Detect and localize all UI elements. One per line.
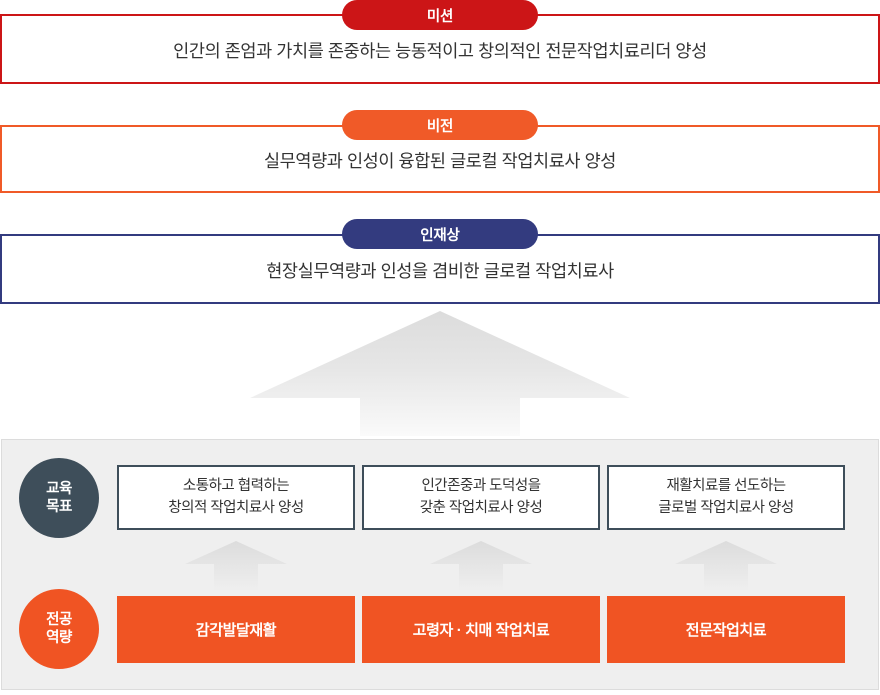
education-goal-box-line2: 글로벌 작업치료사 양성: [658, 500, 793, 516]
major-competency-box-label: 전문작업치료: [686, 619, 766, 640]
talent-pill-badge: 인재상: [342, 219, 538, 249]
major-competency-box: 전문작업치료: [607, 596, 845, 663]
talent-pill-label: 인재상: [420, 224, 459, 245]
vision-pill-label: 비전: [427, 115, 453, 136]
education-goal-circle-line1: 교육: [46, 480, 72, 498]
education-goal-box-line2: 창의적 작업치료사 양성: [168, 500, 303, 516]
small-upward-arrow-icon: [675, 541, 777, 591]
education-goal-circle: 교육 목표: [19, 458, 99, 538]
education-goal-box-line2: 갖춘 작업치료사 양성: [420, 500, 543, 516]
vision-text: 실무역량과 인성이 융합된 글로컬 작업치료사 양성: [264, 146, 616, 173]
small-upward-arrow-icon: [185, 541, 287, 591]
major-competency-box-label: 고령자 · 치매 작업치료: [413, 619, 550, 640]
small-upward-arrow-icon: [430, 541, 532, 591]
major-competency-circle: 전공 역량: [19, 589, 99, 669]
vision-pill-badge: 비전: [342, 110, 538, 140]
major-competency-box-label: 감각발달재활: [196, 619, 276, 640]
major-competency-box: 고령자 · 치매 작업치료: [362, 596, 600, 663]
major-competency-circle-line1: 전공: [46, 611, 72, 629]
major-competency-circle-line2: 역량: [46, 629, 72, 647]
education-goal-box-line1: 인간존중과 도덕성을: [421, 478, 540, 494]
education-goal-box-line1: 재활치료를 선도하는: [666, 478, 785, 494]
education-goal-circle-line2: 목표: [46, 498, 72, 516]
education-goal-box: 재활치료를 선도하는 글로벌 작업치료사 양성: [607, 465, 845, 530]
mission-pill-badge: 미션: [342, 0, 538, 30]
major-competency-box: 감각발달재활: [117, 596, 355, 663]
education-goal-box-line1: 소통하고 협력하는: [183, 478, 289, 494]
diagram-root: 인간의 존엄과 가치를 존중하는 능동적이고 창의적인 전문작업치료리더 양성 …: [0, 0, 880, 695]
education-goal-box: 인간존중과 도덕성을 갖춘 작업치료사 양성: [362, 465, 600, 530]
mission-text: 인간의 존엄과 가치를 존중하는 능동적이고 창의적인 전문작업치료리더 양성: [173, 36, 707, 63]
upward-arrow-icon: [250, 311, 630, 436]
education-goal-box: 소통하고 협력하는 창의적 작업치료사 양성: [117, 465, 355, 530]
talent-text: 현장실무역량과 인성을 겸비한 글로컬 작업치료사: [266, 256, 614, 283]
mission-pill-label: 미션: [427, 5, 453, 26]
